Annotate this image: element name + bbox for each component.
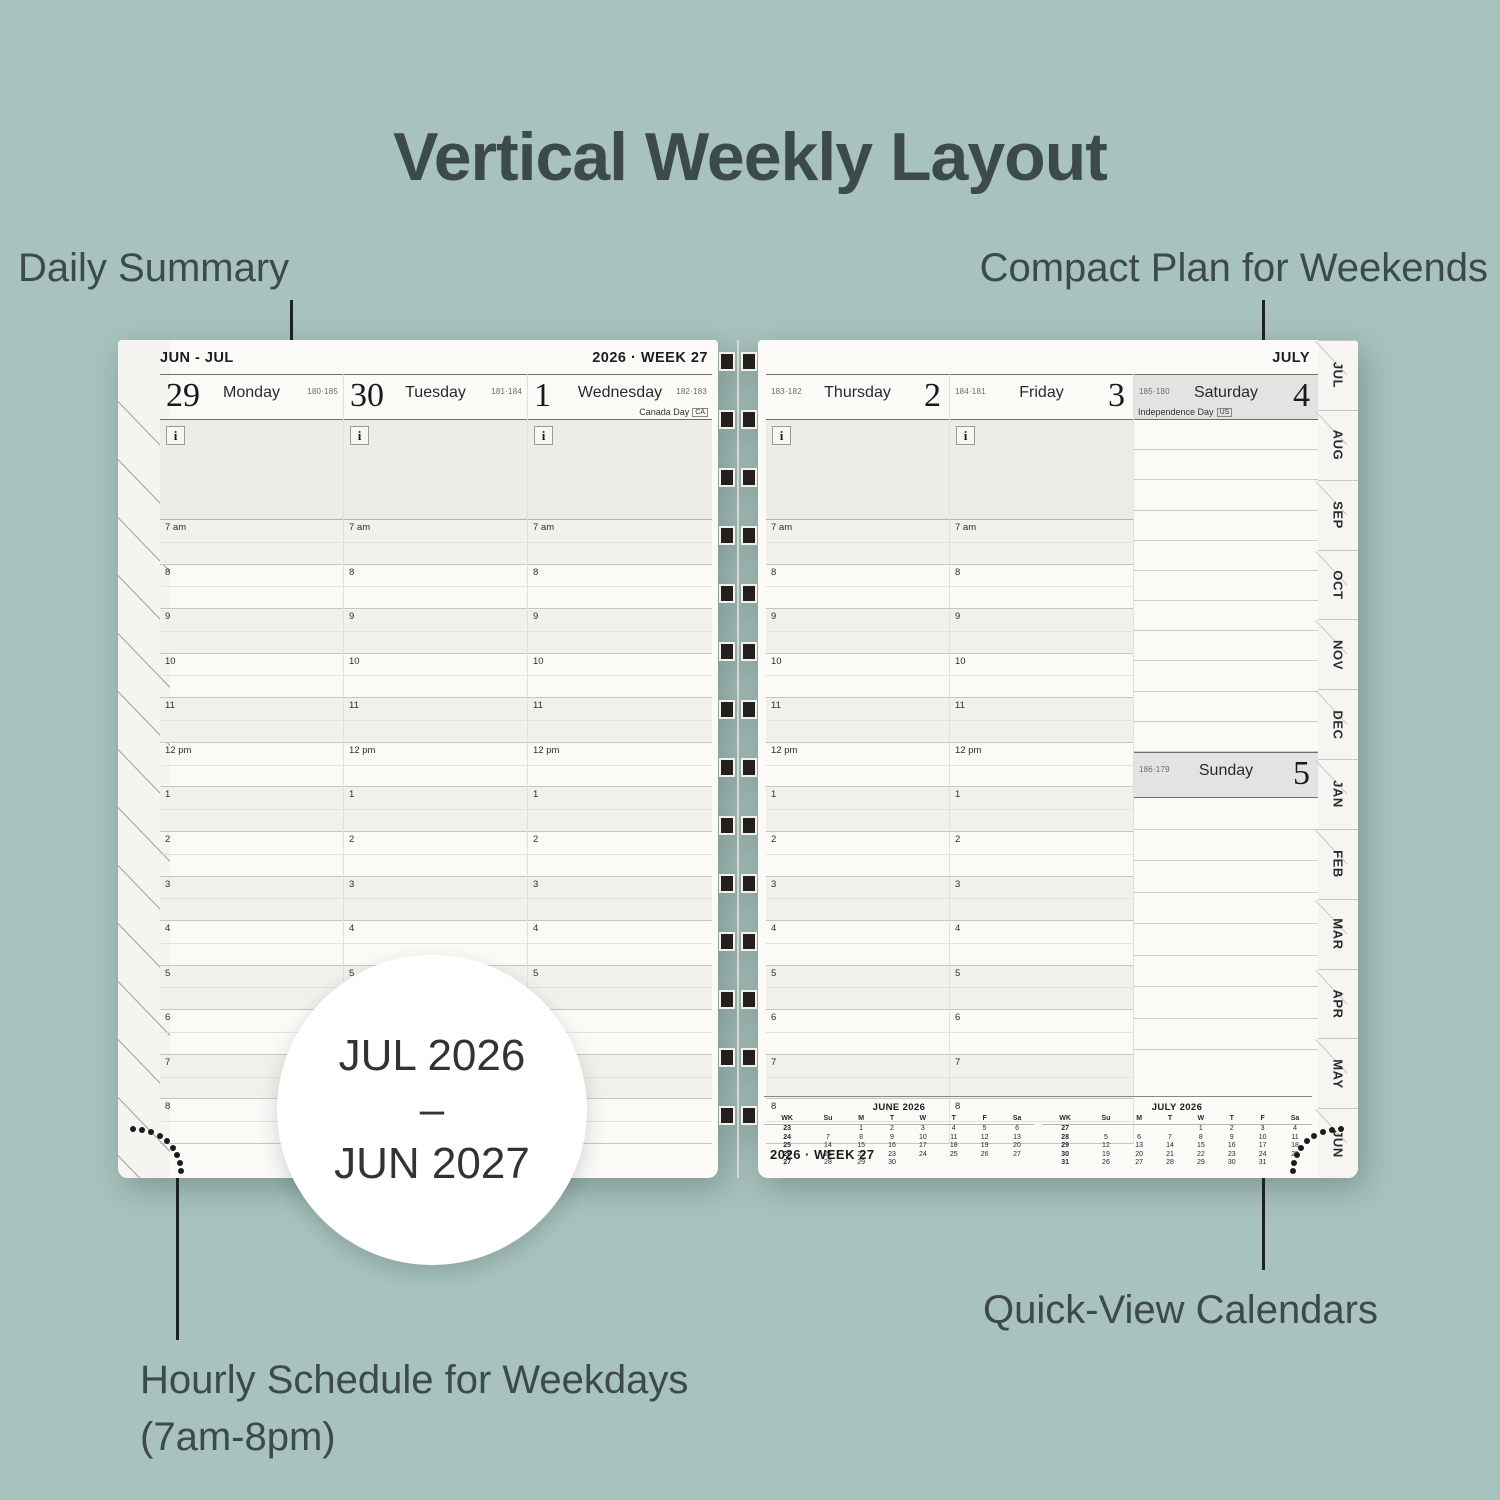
hour-label: 3 — [533, 879, 538, 890]
weekend-header-sunday: 5Sunday186·179 — [1134, 752, 1318, 798]
mini-calendar-row: 2912131415161718 — [1042, 1142, 1312, 1151]
binding-hole — [741, 758, 757, 777]
weekday-hour-row[interactable]: 9 — [344, 609, 527, 654]
month-tab-apr[interactable]: APR — [1318, 969, 1358, 1039]
half-hour-line — [528, 898, 712, 899]
mini-calendar-row: 271234 — [1042, 1125, 1312, 1134]
weekday-hour-row[interactable]: 9 — [766, 609, 949, 654]
callout-quick-view: Quick-View Calendars — [983, 1288, 1378, 1333]
weekday-hour-row[interactable]: 6 — [950, 1010, 1133, 1055]
half-hour-line — [950, 720, 1133, 721]
half-hour-line — [160, 898, 343, 899]
hour-label: 6 — [165, 1012, 170, 1023]
hour-label: 8 — [165, 1101, 170, 1112]
hour-label: 5 — [165, 968, 170, 979]
weekday-hour-row[interactable]: 1 — [528, 787, 712, 832]
date-cell[interactable]: 12 — [969, 1134, 1000, 1143]
weekday-hour-row[interactable]: 2 — [160, 832, 343, 877]
date-cell[interactable]: 30 — [1216, 1159, 1247, 1168]
weekend-note-lines[interactable] — [1134, 420, 1318, 752]
note-line[interactable] — [1134, 893, 1318, 925]
date-cell[interactable]: 27 — [1124, 1159, 1155, 1168]
date-cell[interactable]: 24 — [907, 1151, 938, 1160]
hour-label: 9 — [955, 611, 960, 622]
half-hour-line — [950, 1077, 1133, 1078]
corner-dot — [1290, 1168, 1296, 1174]
date-cell[interactable]: 3 — [1247, 1125, 1278, 1134]
day-page-refs: 182·183 — [676, 387, 707, 396]
note-line[interactable] — [1134, 924, 1318, 956]
weekday-hour-row[interactable]: 10 — [160, 654, 343, 699]
hour-label: 12 pm — [165, 745, 191, 756]
binding-hole — [741, 410, 757, 429]
date-cell[interactable]: 25 — [938, 1151, 969, 1160]
date-cell[interactable]: 26 — [1088, 1159, 1123, 1168]
binding-hole — [719, 526, 735, 545]
weekday-hour-row[interactable]: 11 — [344, 698, 527, 743]
half-hour-line — [344, 943, 527, 944]
mini-calendar-title: JUNE 2026 — [764, 1102, 1034, 1113]
half-hour-line — [766, 943, 949, 944]
binding-hole — [719, 700, 735, 719]
hour-label: 5 — [955, 968, 960, 979]
month-tab-oct[interactable]: OCT — [1318, 550, 1358, 620]
hour-label: 12 pm — [349, 745, 375, 756]
note-line[interactable] — [1134, 420, 1318, 450]
weekday-hour-row[interactable]: 12 pm — [160, 743, 343, 788]
hour-label: 4 — [955, 923, 960, 934]
date-cell[interactable]: 12 — [1088, 1142, 1123, 1151]
date-cell[interactable]: 15 — [1185, 1142, 1216, 1151]
binding-hole — [741, 468, 757, 487]
date-cell[interactable] — [810, 1125, 845, 1134]
half-hour-line — [528, 809, 712, 810]
month-tab-sep[interactable]: SEP — [1318, 480, 1358, 550]
date-cell[interactable]: 19 — [1088, 1151, 1123, 1160]
mini-calendar-title: JULY 2026 — [1042, 1102, 1312, 1113]
date-cell[interactable]: 5 — [969, 1125, 1000, 1134]
weekday-hour-row[interactable]: 9 — [528, 609, 712, 654]
mini-calendar-header: M — [1124, 1115, 1155, 1124]
binding-hole — [741, 642, 757, 661]
weekday-hour-row[interactable]: 2 — [766, 832, 949, 877]
info-icon[interactable]: i — [534, 426, 553, 445]
weekday-hour-row[interactable]: 1 — [344, 787, 527, 832]
date-cell[interactable]: 7 — [1155, 1134, 1186, 1143]
half-hour-line — [528, 675, 712, 676]
hour-label: 12 pm — [533, 745, 559, 756]
half-hour-line — [528, 854, 712, 855]
month-tab-dec[interactable]: DEC — [1318, 689, 1358, 759]
hour-label: 1 — [165, 789, 170, 800]
date-cell[interactable]: 2 — [1216, 1125, 1247, 1134]
month-index-tabs: JULAUGSEPOCTNOVDECJANFEBMARAPRMAYJUN — [1318, 340, 1358, 1178]
weekday-hour-row[interactable]: 2 — [950, 832, 1133, 877]
day-name: Monday — [223, 384, 280, 402]
date-cell[interactable]: 1 — [846, 1125, 877, 1134]
weekday-hour-row[interactable]: 11 — [160, 698, 343, 743]
date-cell[interactable]: 29 — [1185, 1159, 1216, 1168]
date-cell[interactable]: 13 — [1124, 1142, 1155, 1151]
month-tab-nov[interactable]: NOV — [1318, 619, 1358, 689]
date-cell[interactable]: 27 — [1000, 1151, 1034, 1160]
date-cell[interactable]: 24 — [1247, 1151, 1278, 1160]
date-cell[interactable]: 22 — [1185, 1151, 1216, 1160]
mini-calendar-row: 28567891011 — [1042, 1134, 1312, 1143]
binding-hole — [719, 1106, 735, 1125]
corner-dot — [177, 1160, 183, 1166]
date-cell[interactable]: 30 — [877, 1159, 908, 1168]
weekday-hour-row[interactable]: 7 — [950, 1055, 1133, 1100]
date-cell[interactable]: 18 — [938, 1142, 969, 1151]
weekday-hour-row[interactable]: 10 — [344, 654, 527, 699]
weekday-hour-row[interactable]: 12 pm — [766, 743, 949, 788]
day-header: 1Wednesday182·183Canada DayCA — [528, 374, 712, 420]
date-cell[interactable]: 20 — [1124, 1151, 1155, 1160]
half-hour-line — [344, 809, 527, 810]
daily-summary-box[interactable]: i — [528, 420, 712, 520]
date-cell[interactable] — [969, 1159, 1000, 1168]
weekday-hour-row[interactable]: 8 — [160, 565, 343, 610]
day-name: Saturday — [1194, 384, 1258, 402]
date-cell[interactable]: 6 — [1124, 1134, 1155, 1143]
weekday-hour-row[interactable]: 1 — [766, 787, 949, 832]
date-cell[interactable]: 9 — [1216, 1134, 1247, 1143]
daily-summary-box[interactable]: i — [766, 420, 949, 520]
day-name: Friday — [1019, 384, 1063, 402]
hour-label: 4 — [533, 923, 538, 934]
day-name: Sunday — [1199, 762, 1253, 780]
binding-hole — [719, 584, 735, 603]
hour-label: 9 — [165, 611, 170, 622]
week-number-cell[interactable]: 24 — [764, 1134, 810, 1143]
weekday-hour-row[interactable]: 11 — [766, 698, 949, 743]
info-icon[interactable]: i — [350, 426, 369, 445]
day-column-thursday[interactable]: 2Thursday183·182i7 am89101112 pm12345678 — [766, 374, 950, 1144]
weekday-hour-row[interactable]: 5 — [950, 966, 1133, 1011]
weekend-column[interactable]: 4Saturday185·180Independence DayUS5Sunda… — [1134, 374, 1318, 1144]
info-icon[interactable]: i — [166, 426, 185, 445]
half-hour-line — [766, 631, 949, 632]
day-page-refs: 180·185 — [307, 387, 338, 396]
date-cell[interactable]: 14 — [1155, 1142, 1186, 1151]
weekday-hour-row[interactable]: 10 — [528, 654, 712, 699]
weekday-hour-row[interactable]: 5 — [160, 966, 343, 1011]
weekday-hour-row[interactable]: 3 — [160, 877, 343, 922]
day-header: 3Friday184·181 — [950, 374, 1133, 420]
weekday-hour-row[interactable]: 7 am — [160, 520, 343, 565]
date-cell[interactable]: 13 — [1000, 1134, 1034, 1143]
daily-summary-box[interactable]: i — [950, 420, 1133, 520]
day-number: 5 — [1293, 757, 1310, 791]
right-page-month-label: JULY — [1272, 350, 1310, 376]
month-tab-label: DEC — [1331, 710, 1346, 739]
date-cell[interactable]: 21 — [1155, 1151, 1186, 1160]
half-hour-line — [344, 898, 527, 899]
mini-calendar-header: Sa — [1000, 1115, 1034, 1124]
hour-label: 9 — [771, 611, 776, 622]
half-hour-line — [160, 675, 343, 676]
note-line[interactable] — [1134, 631, 1318, 661]
weekday-hour-row[interactable]: 5 — [766, 966, 949, 1011]
binding-hole — [741, 816, 757, 835]
holiday-label: Independence DayUS — [1138, 407, 1232, 417]
note-line[interactable] — [1134, 541, 1318, 571]
month-tab-feb[interactable]: FEB — [1318, 829, 1358, 899]
note-line[interactable] — [1134, 480, 1318, 510]
note-line[interactable] — [1134, 601, 1318, 631]
half-hour-line — [766, 765, 949, 766]
note-line[interactable] — [1134, 987, 1318, 1019]
info-icon[interactable]: i — [956, 426, 975, 445]
note-line[interactable] — [1134, 861, 1318, 893]
date-cell[interactable]: 20 — [1000, 1142, 1034, 1151]
weekday-hour-row[interactable]: 8 — [950, 565, 1133, 610]
binding-hole — [719, 352, 735, 371]
note-line[interactable] — [1134, 450, 1318, 480]
daily-summary-box[interactable]: i — [160, 420, 343, 520]
day-number: 2 — [924, 379, 941, 413]
half-hour-line — [766, 720, 949, 721]
date-cell[interactable]: 17 — [1247, 1142, 1278, 1151]
week-number-cell[interactable]: 30 — [1042, 1151, 1088, 1160]
mini-calendar-header: F — [969, 1115, 1000, 1124]
date-cell[interactable]: 7 — [810, 1134, 845, 1143]
hour-label: 10 — [771, 656, 782, 667]
binding-hole — [719, 642, 735, 661]
date-cell[interactable]: 8 — [1185, 1134, 1216, 1143]
weekday-hour-row[interactable]: 3 — [344, 877, 527, 922]
weekday-hour-row[interactable]: 4 — [766, 921, 949, 966]
half-hour-line — [950, 1032, 1133, 1033]
month-tab-label: OCT — [1331, 570, 1346, 599]
weekday-hour-row[interactable]: 2 — [344, 832, 527, 877]
weekday-hour-row[interactable]: 10 — [950, 654, 1133, 699]
date-cell[interactable]: 6 — [1000, 1125, 1034, 1134]
binding-hole — [741, 1106, 757, 1125]
half-hour-line — [766, 1032, 949, 1033]
mini-calendar-row: 31262728293031 — [1042, 1159, 1312, 1168]
weekday-hour-row[interactable]: 8 — [528, 565, 712, 610]
weekday-hour-row[interactable]: 2 — [528, 832, 712, 877]
binding-hole — [741, 874, 757, 893]
weekday-hour-row[interactable]: 7 am — [766, 520, 949, 565]
weekday-hour-row[interactable]: 8 — [766, 565, 949, 610]
weekday-hour-row[interactable]: 11 — [528, 698, 712, 743]
hour-label: 3 — [165, 879, 170, 890]
weekday-hour-row[interactable]: 1 — [950, 787, 1133, 832]
mini-calendar-header: F — [1247, 1115, 1278, 1124]
week-number-cell[interactable]: 31 — [1042, 1159, 1088, 1168]
weekday-hour-row[interactable]: 3 — [766, 877, 949, 922]
weekday-hour-row[interactable]: 8 — [344, 565, 527, 610]
weekday-hour-row[interactable]: 4 — [160, 921, 343, 966]
binding-hole — [719, 990, 735, 1009]
week-number-cell[interactable]: 28 — [1042, 1134, 1088, 1143]
month-tab-label: APR — [1331, 989, 1346, 1018]
date-cell[interactable]: 11 — [938, 1134, 969, 1143]
badge-line-1: JUL 2026 — [339, 1029, 526, 1083]
date-cell[interactable]: 5 — [1088, 1134, 1123, 1143]
note-line[interactable] — [1134, 722, 1318, 752]
date-cell[interactable]: 23 — [1216, 1151, 1247, 1160]
hour-label: 6 — [955, 1012, 960, 1023]
month-tab-jan[interactable]: JAN — [1318, 759, 1358, 829]
weekday-hour-row[interactable]: 7 am — [344, 520, 527, 565]
date-range-badge: JUL 2026 – JUN 2027 — [277, 955, 587, 1265]
note-line[interactable] — [1134, 830, 1318, 862]
page-title: Vertical Weekly Layout — [0, 118, 1500, 196]
date-cell[interactable]: 16 — [877, 1142, 908, 1151]
mini-calendar-header: W — [907, 1115, 938, 1124]
day-header: 30Tuesday181·184 — [344, 374, 527, 420]
half-hour-line — [766, 586, 949, 587]
mini-calendar-header: T — [1216, 1115, 1247, 1124]
weekday-hour-row[interactable]: 7 am — [528, 520, 712, 565]
half-hour-line — [344, 542, 527, 543]
weekday-hour-row[interactable]: 9 — [160, 609, 343, 654]
weekday-hour-row[interactable]: 7 — [766, 1055, 949, 1100]
hour-label: 9 — [533, 611, 538, 622]
date-cell[interactable]: 28 — [1155, 1159, 1186, 1168]
weekday-hour-row[interactable]: 6 — [766, 1010, 949, 1055]
left-page-month-label: JUN - JUL — [160, 350, 234, 376]
date-cell[interactable]: 16 — [1216, 1142, 1247, 1151]
date-cell[interactable]: 26 — [969, 1151, 1000, 1160]
date-cell[interactable]: 2 — [877, 1125, 908, 1134]
corner-dot — [174, 1152, 180, 1158]
weekday-hour-row[interactable]: 3 — [528, 877, 712, 922]
half-hour-line — [950, 586, 1133, 587]
day-number: 1 — [534, 379, 551, 413]
weekday-hour-row[interactable]: 11 — [950, 698, 1133, 743]
day-page-refs: 185·180 — [1139, 387, 1170, 396]
month-tab-may[interactable]: MAY — [1318, 1038, 1358, 1108]
hour-label: 5 — [533, 968, 538, 979]
note-line[interactable] — [1134, 511, 1318, 541]
mini-calendar-header: Su — [810, 1115, 845, 1124]
weekday-hour-row[interactable]: 3 — [950, 877, 1133, 922]
day-number: 4 — [1293, 379, 1310, 413]
corner-dot — [157, 1133, 163, 1139]
date-cell[interactable] — [938, 1159, 969, 1168]
mini-calendar-header: Su — [1088, 1115, 1123, 1124]
weekday-hour-row[interactable]: 7 am — [950, 520, 1133, 565]
mini-calendar-row: 2478910111213 — [764, 1134, 1034, 1143]
week-number-cell[interactable]: 27 — [1042, 1125, 1088, 1134]
date-cell[interactable]: 31 — [1247, 1159, 1278, 1168]
date-cell[interactable]: 23 — [877, 1151, 908, 1160]
month-tab-label: FEB — [1331, 850, 1346, 878]
date-cell[interactable]: 8 — [846, 1134, 877, 1143]
binding-hole — [719, 874, 735, 893]
note-line[interactable] — [1134, 661, 1318, 691]
week-number-cell[interactable]: 23 — [764, 1125, 810, 1134]
weekend-header-saturday: 4Saturday185·180Independence DayUS — [1134, 374, 1318, 420]
daily-summary-box[interactable]: i — [344, 420, 527, 520]
date-cell[interactable] — [1124, 1125, 1155, 1134]
weekend-note-lines[interactable] — [1134, 798, 1318, 1050]
weekday-hour-row[interactable]: 4 — [950, 921, 1133, 966]
mini-calendar-row: 23123456 — [764, 1125, 1034, 1134]
info-icon[interactable]: i — [772, 426, 791, 445]
holiday-region-badge: US — [1217, 408, 1233, 417]
half-hour-line — [950, 987, 1133, 988]
month-tab-mar[interactable]: MAR — [1318, 899, 1358, 969]
hour-label: 8 — [533, 567, 538, 578]
weekday-hour-row[interactable]: 4 — [528, 921, 712, 966]
corner-dot — [164, 1138, 170, 1144]
half-hour-line — [160, 987, 343, 988]
note-line[interactable] — [1134, 571, 1318, 601]
weekday-hour-row[interactable]: 1 — [160, 787, 343, 832]
date-cell[interactable]: 19 — [969, 1142, 1000, 1151]
note-line[interactable] — [1134, 798, 1318, 830]
half-hour-line — [160, 765, 343, 766]
date-cell[interactable]: 17 — [907, 1142, 938, 1151]
month-tab-label: JUL — [1331, 362, 1346, 388]
date-cell[interactable]: 4 — [938, 1125, 969, 1134]
mini-calendar-header: WK — [1042, 1115, 1088, 1124]
day-column-friday[interactable]: 3Friday184·181i7 am89101112 pm12345678 — [950, 374, 1134, 1144]
weekday-hour-row[interactable]: 5 — [528, 966, 712, 1011]
note-line[interactable] — [1134, 692, 1318, 722]
half-hour-line — [950, 898, 1133, 899]
date-cell[interactable]: 1 — [1185, 1125, 1216, 1134]
mini-calendar[interactable]: JULY 2026WKSuMTWTFSa27123428567891011291… — [1042, 1102, 1312, 1168]
day-number: 30 — [350, 379, 384, 413]
day-number: 3 — [1108, 379, 1125, 413]
weekday-hour-row[interactable]: 9 — [950, 609, 1133, 654]
hour-label: 10 — [349, 656, 360, 667]
month-tab-label: NOV — [1331, 640, 1346, 670]
weekday-hour-row[interactable]: 10 — [766, 654, 949, 699]
month-tab-aug[interactable]: AUG — [1318, 410, 1358, 480]
hour-label: 9 — [349, 611, 354, 622]
date-cell[interactable] — [1088, 1125, 1123, 1134]
date-cell[interactable]: 10 — [907, 1134, 938, 1143]
weekday-hour-row[interactable]: 12 pm — [528, 743, 712, 788]
corner-dot — [1311, 1133, 1317, 1139]
hour-label: 8 — [771, 567, 776, 578]
badge-line-2: – — [420, 1083, 444, 1137]
hour-label: 3 — [955, 879, 960, 890]
weekday-hour-row[interactable]: 12 pm — [344, 743, 527, 788]
date-cell[interactable] — [1000, 1159, 1034, 1168]
weekday-hour-row[interactable]: 12 pm — [950, 743, 1133, 788]
half-hour-line — [344, 631, 527, 632]
month-tab-jul[interactable]: JUL — [1318, 340, 1358, 410]
note-line[interactable] — [1134, 1019, 1318, 1051]
mini-calendar-header: T — [1155, 1115, 1186, 1124]
week-number-cell[interactable]: 29 — [1042, 1142, 1088, 1151]
callout-weekends: Compact Plan for Weekends — [980, 246, 1488, 291]
spine-line — [737, 340, 739, 1178]
date-cell[interactable]: 3 — [907, 1125, 938, 1134]
half-hour-line — [160, 854, 343, 855]
binding-hole — [719, 932, 735, 951]
note-line[interactable] — [1134, 956, 1318, 988]
date-cell[interactable] — [1155, 1125, 1186, 1134]
date-cell[interactable]: 10 — [1247, 1134, 1278, 1143]
date-cell[interactable] — [907, 1159, 938, 1168]
half-hour-line — [766, 898, 949, 899]
date-cell[interactable]: 9 — [877, 1134, 908, 1143]
planner-right-page: JULY 2Thursday183·182i7 am89101112 pm123… — [758, 340, 1358, 1178]
hour-label: 7 — [165, 1057, 170, 1068]
binding-hole — [741, 584, 757, 603]
corner-dot — [1329, 1127, 1335, 1133]
